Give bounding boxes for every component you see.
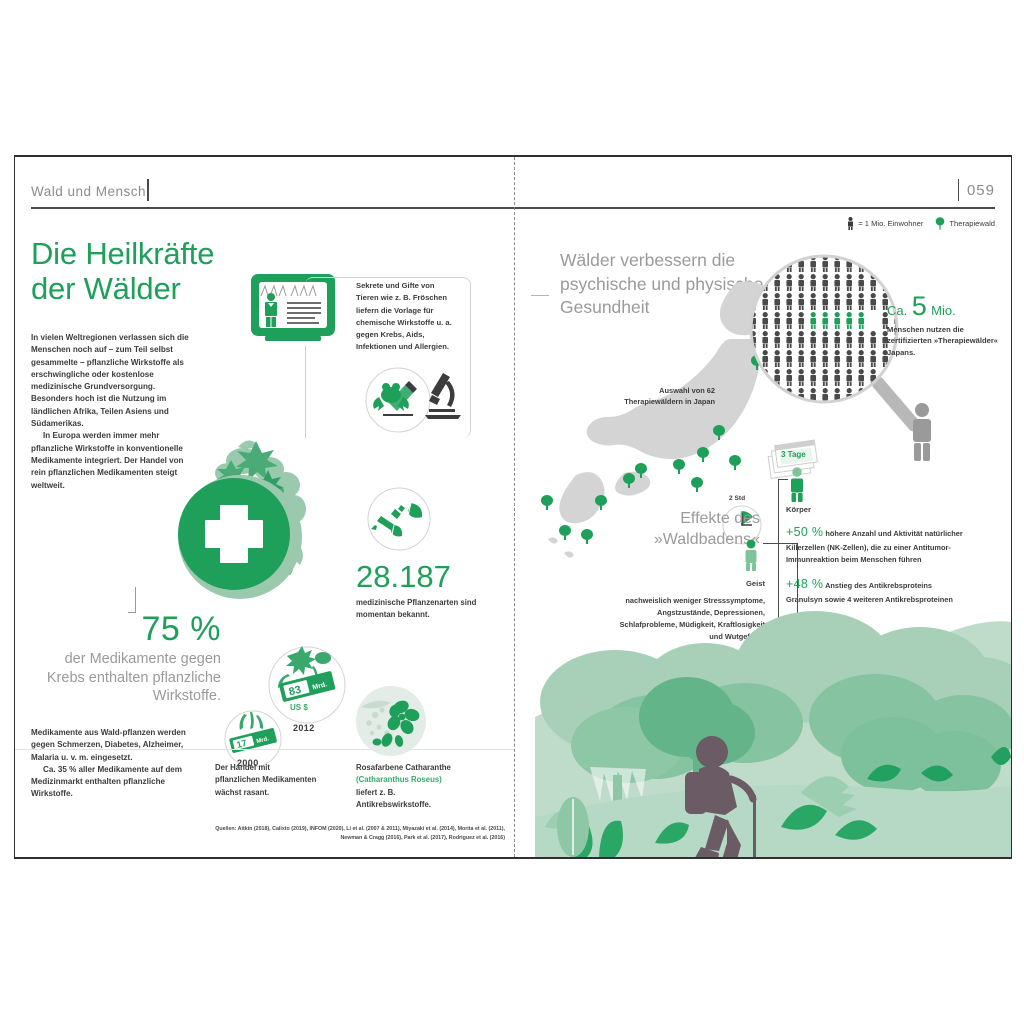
page-number: 059 bbox=[967, 182, 995, 199]
person-icon bbox=[847, 217, 854, 230]
legend-tree-label: Therapiewald bbox=[949, 219, 995, 228]
label-2-hours: 2 Std bbox=[729, 495, 745, 502]
running-head-divider bbox=[147, 179, 149, 201]
magazine-spread: Wald und Mensch 059 = 1 Mio. Einwohner T… bbox=[14, 155, 1012, 859]
map-caption: Auswahl von 62 Therapiewäldern in Japan bbox=[615, 385, 715, 408]
page-gutter bbox=[514, 157, 515, 857]
tree-icon bbox=[935, 217, 945, 230]
standing-person-figure bbox=[905, 402, 939, 462]
hiking-pole bbox=[753, 795, 756, 857]
legend-item-person: = 1 Mio. Einwohner bbox=[847, 217, 923, 230]
header-rule bbox=[31, 207, 995, 209]
koerper-bracket-top bbox=[778, 479, 788, 480]
legend-item-tree: Therapiewald bbox=[935, 217, 995, 230]
ca5-number: 5 bbox=[912, 291, 927, 321]
therapy-forest-users-fact: Ca. 5 Mio. Menschen nutzen die zertifizi… bbox=[887, 293, 1007, 358]
legend: = 1 Mio. Einwohner Therapiewald bbox=[847, 217, 995, 230]
ca5-prefix: Ca. bbox=[887, 303, 907, 318]
title-line-1: Die Heilkräfte bbox=[31, 237, 361, 272]
running-head: Wald und Mensch bbox=[31, 184, 146, 199]
ca5-caption: Menschen nutzen die zertifizierten »Ther… bbox=[887, 324, 1007, 358]
koerper-person-icon bbox=[786, 467, 808, 503]
frog-pipette-icon bbox=[365, 367, 431, 433]
intro-paragraph-1: In vielen Weltregionen verlassen sich di… bbox=[31, 332, 199, 430]
koerper-heading: Körper bbox=[786, 505, 966, 514]
label-3-days: 3 Tage bbox=[781, 450, 806, 459]
ca5-row: Ca. 5 Mio. bbox=[887, 293, 1007, 320]
infographic-page: Wald und Mensch 059 = 1 Mio. Einwohner T… bbox=[0, 0, 1024, 1024]
forest-illustration bbox=[15, 527, 1011, 857]
folio-divider bbox=[958, 179, 960, 201]
legend-person-label: = 1 Mio. Einwohner bbox=[858, 219, 923, 228]
ca5-unit: Mio. bbox=[931, 303, 956, 318]
microscope-icon bbox=[423, 369, 463, 421]
animal-toxins-text: Sekrete und Gifte von Tieren wie z. B. F… bbox=[356, 280, 454, 354]
left-foreground-plants bbox=[557, 797, 589, 857]
